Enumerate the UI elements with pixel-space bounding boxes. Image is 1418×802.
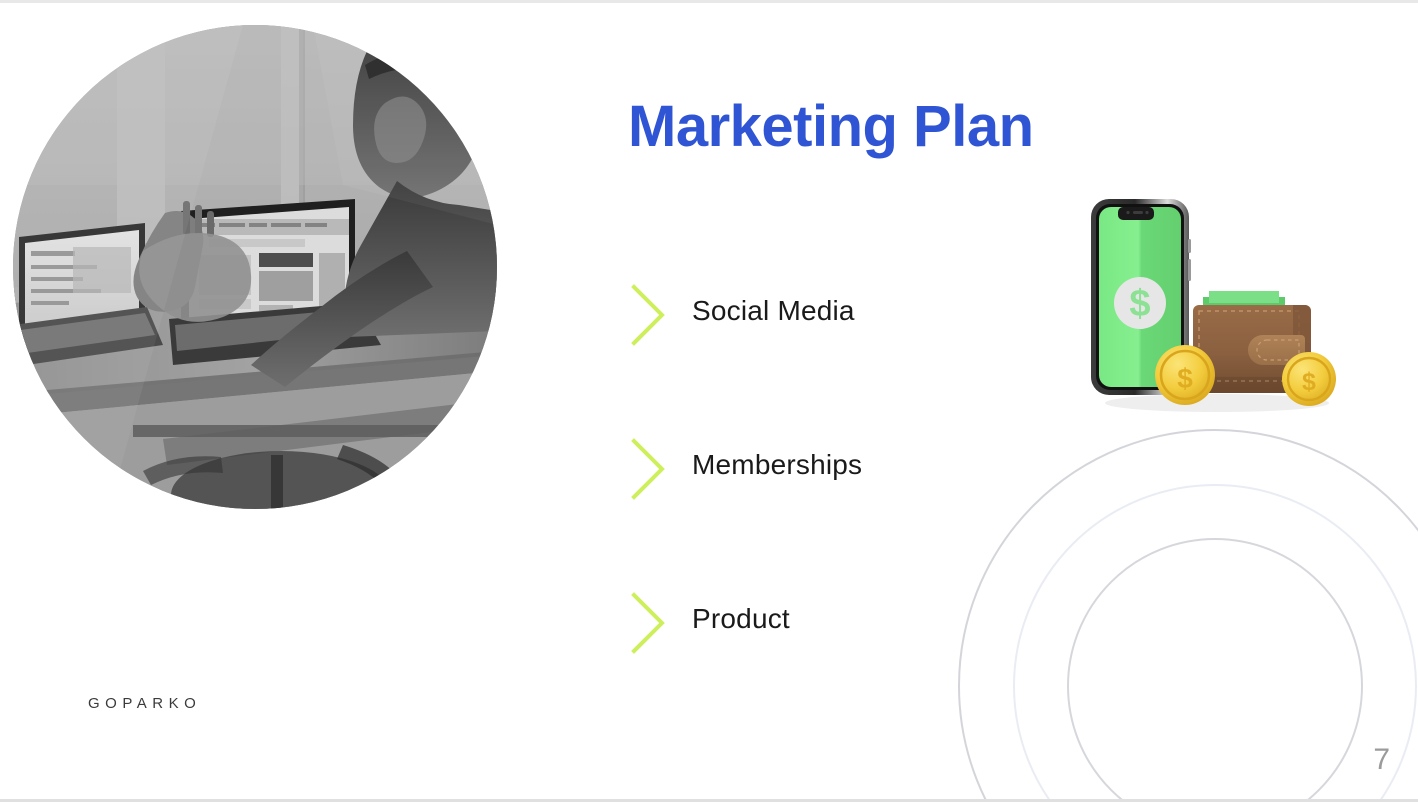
list-item[interactable]: Memberships xyxy=(628,429,1048,583)
presentation-slide: Marketing Plan Social Media Memberships xyxy=(0,0,1418,802)
page-title: Marketing Plan xyxy=(628,95,1034,159)
brand-wordmark: GOPARKO xyxy=(88,695,201,712)
chevron-right-icon xyxy=(630,437,666,501)
ring-inner xyxy=(1067,538,1363,802)
page-number: 7 xyxy=(1373,743,1390,777)
phone-wallet-coins-illustration: $ $ xyxy=(1085,193,1347,413)
chevron-right-icon xyxy=(630,283,666,347)
bullet-list: Social Media Memberships Product xyxy=(628,275,1048,583)
list-item-label: Memberships xyxy=(692,449,862,481)
office-meeting-laptops-photo xyxy=(13,25,497,509)
ring-middle xyxy=(1013,484,1417,802)
svg-text:$: $ xyxy=(1177,363,1193,394)
chevron-right-icon xyxy=(630,591,666,655)
svg-text:$: $ xyxy=(1302,368,1316,396)
svg-text:$: $ xyxy=(1129,283,1150,325)
list-item[interactable]: Social Media xyxy=(628,275,1048,429)
list-item-label: Social Media xyxy=(692,295,855,327)
list-item-label: Product xyxy=(692,603,790,635)
